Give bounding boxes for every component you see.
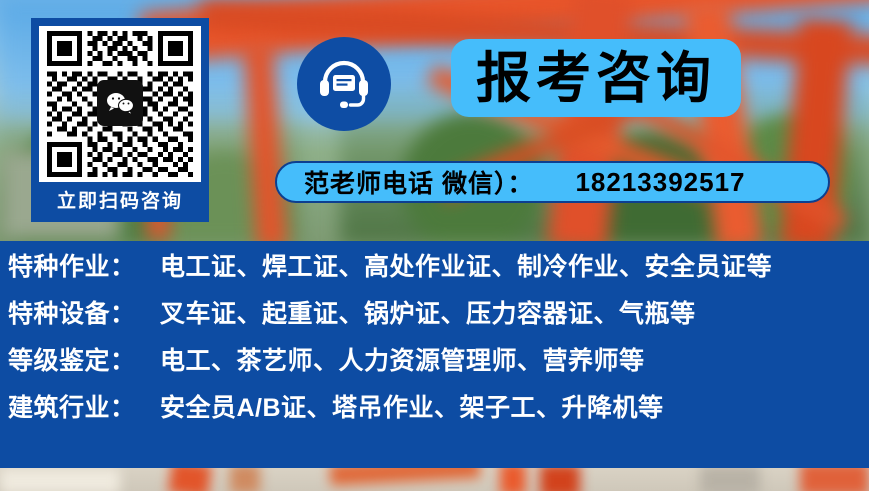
category-row: 等级鉴定： 电工、茶艺师、人力资源管理师、营养师等 — [0, 335, 869, 382]
contact-label: 范老师电话 微信）： — [304, 164, 533, 200]
category-items: 叉车证、起重证、锅炉证、压力容器证、气瓶等 — [160, 294, 696, 330]
headset-support-icon[interactable] — [297, 37, 391, 131]
category-row: 特种设备： 叉车证、起重证、锅炉证、压力容器证、气瓶等 — [0, 288, 869, 335]
promo-poster: 立即扫码咨询 报考咨询 范老师电话 微信）： 18213392517 特种作业：… — [0, 0, 869, 491]
qr-code[interactable] — [39, 26, 201, 182]
strip-element — [540, 468, 580, 491]
category-label: 特种作业： — [8, 247, 160, 283]
category-items: 电工证、焊工证、高处作业证、制冷作业、安全员证等 — [160, 247, 772, 283]
category-label: 特种设备： — [8, 294, 160, 330]
wechat-icon — [97, 80, 143, 126]
contact-bar[interactable]: 范老师电话 微信）： 18213392517 — [275, 161, 830, 203]
category-list-panel: 特种作业： 电工证、焊工证、高处作业证、制冷作业、安全员证等 特种设备： 叉车证… — [0, 241, 869, 468]
wechat-glyph — [105, 91, 135, 115]
category-row: 特种作业： 电工证、焊工证、高处作业证、制冷作业、安全员证等 — [0, 241, 869, 288]
title-badge: 报考咨询 — [451, 39, 741, 117]
strip-element — [500, 468, 526, 491]
contact-number[interactable]: 18213392517 — [575, 167, 745, 198]
category-items: 安全员A/B证、塔吊作业、架子工、升降机等 — [160, 388, 664, 424]
qr-caption: 立即扫码咨询 — [57, 182, 183, 222]
strip-element — [700, 468, 760, 491]
strip-element — [230, 468, 260, 491]
headset-glyph — [313, 53, 375, 115]
category-label: 等级鉴定： — [8, 341, 160, 377]
qr-card[interactable]: 立即扫码咨询 — [31, 18, 209, 222]
strip-element — [800, 468, 869, 491]
page-title: 报考咨询 — [476, 51, 716, 106]
category-row: 建筑行业： 安全员A/B证、塔吊作业、架子工、升降机等 — [0, 382, 869, 429]
strip-element — [168, 468, 212, 491]
strip-element — [330, 468, 481, 486]
strip-element — [0, 468, 120, 491]
bottom-photo-strip — [0, 468, 869, 491]
category-label: 建筑行业： — [8, 388, 160, 424]
category-items: 电工、茶艺师、人力资源管理师、营养师等 — [160, 341, 645, 377]
